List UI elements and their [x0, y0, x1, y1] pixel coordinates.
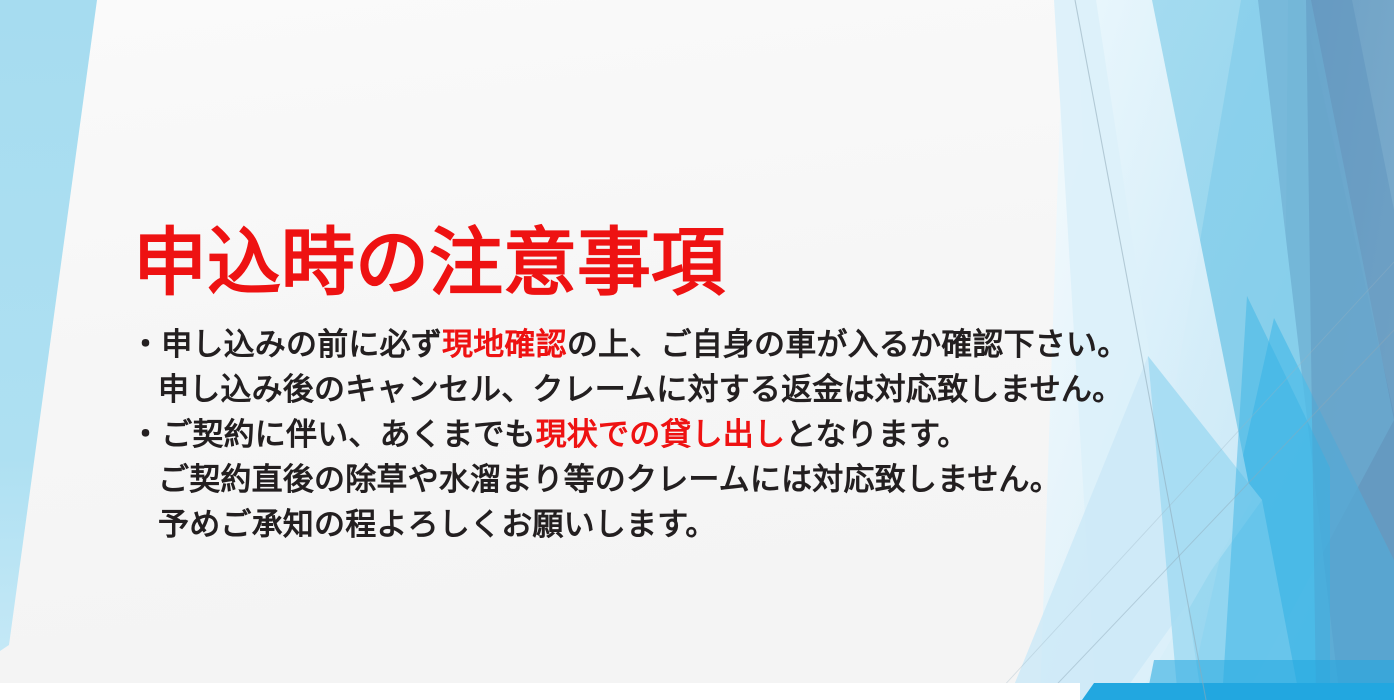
- notice-list: ・申し込みの前に必ず現地確認の上、ご自身の車が入るか確認下さい。 申し込み後のキ…: [130, 322, 1130, 547]
- page-title: 申込時の注意事項: [133, 226, 725, 300]
- notice-line-5-seg-1: 予めご承知の程よろしくお願いします。: [158, 507, 717, 542]
- slide-content: 申込時の注意事項 ・申し込みの前に必ず現地確認の上、ご自身の車が入るか確認下さい…: [0, 0, 1394, 700]
- notice-line-1-highlight: 現地確認: [442, 327, 567, 362]
- notice-line-5: 予めご承知の程よろしくお願いします。: [130, 502, 1130, 547]
- notice-line-1-seg-3: の上、ご自身の車が入るか確認下さい。: [567, 327, 1129, 362]
- notice-line-2: 申し込み後のキャンセル、クレームに対する返金は対応致しません。: [130, 367, 1130, 412]
- notice-line-3-highlight: 現状での貸し出し: [536, 417, 786, 452]
- notice-line-2-seg-1: 申し込み後のキャンセル、クレームに対する返金は対応致しません。: [158, 372, 1123, 407]
- notice-line-3-seg-3: となります。: [785, 417, 968, 452]
- notice-line-1: ・申し込みの前に必ず現地確認の上、ご自身の車が入るか確認下さい。: [130, 322, 1130, 367]
- notice-line-1-seg-1: ・申し込みの前に必ず: [130, 327, 442, 362]
- notice-line-3-seg-1: ・ご契約に伴い、あくまでも: [130, 417, 536, 452]
- presentation-slide: 申込時の注意事項 ・申し込みの前に必ず現地確認の上、ご自身の車が入るか確認下さい…: [0, 0, 1394, 700]
- notice-line-4-seg-1: ご契約直後の除草や水溜まり等のクレームには対応致しません。: [158, 462, 1061, 497]
- notice-line-3: ・ご契約に伴い、あくまでも現状での貸し出しとなります。: [130, 412, 1130, 457]
- notice-line-4: ご契約直後の除草や水溜まり等のクレームには対応致しません。: [130, 457, 1130, 502]
